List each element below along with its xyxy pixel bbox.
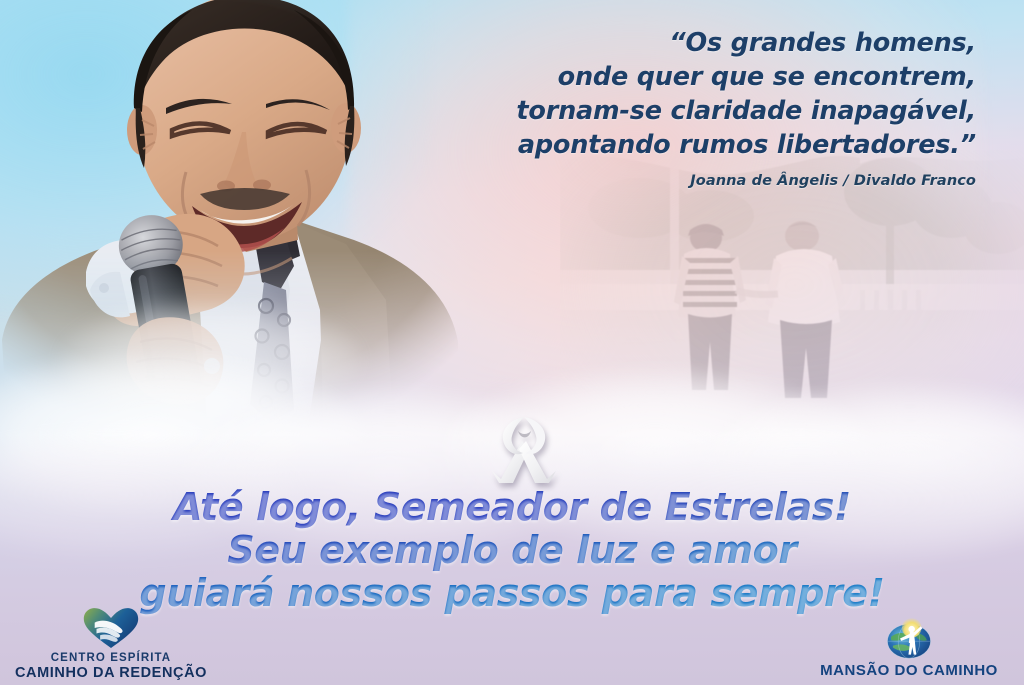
- quote-line-4: apontando rumos libertadores.”: [356, 128, 976, 162]
- quote-line-1: “Os grandes homens,: [356, 26, 976, 60]
- white-mourning-ribbon-icon: [489, 409, 559, 487]
- message-line-2: Seu exemplo de luz e amor: [0, 531, 1024, 572]
- tribute-message: Até logo, Semeador de Estrelas! Seu exem…: [0, 488, 1024, 615]
- quote-block: “Os grandes homens, onde quer que se enc…: [356, 26, 976, 189]
- logo-right-line-1: MANSÃO DO CAMINHO: [820, 662, 998, 679]
- logo-left-line-2: CAMINHO DA REDENÇÃO: [15, 665, 207, 681]
- logo-centro-espirita-caminho-da-redencao: CENTRO ESPÍRITA CAMINHO DA REDENÇÃO: [12, 606, 210, 681]
- background-photo: [560, 150, 1024, 450]
- quote-attribution: Joanna de Ângelis / Divaldo Franco: [356, 173, 976, 189]
- memorial-poster: “Os grandes homens, onde quer que se enc…: [0, 0, 1024, 685]
- globe-figure-logo-icon: [882, 617, 936, 660]
- quote-line-3: tornam-se claridade inapagável,: [356, 94, 976, 128]
- logo-left-line-1: CENTRO ESPÍRITA: [51, 652, 171, 665]
- message-line-1: Até logo, Semeador de Estrelas!: [0, 488, 1024, 529]
- logo-mansao-do-caminho: MANSÃO DO CAMINHO: [804, 617, 1014, 679]
- quote-line-2: onde quer que se encontrem,: [356, 60, 976, 94]
- heart-hands-logo-icon: [82, 606, 140, 650]
